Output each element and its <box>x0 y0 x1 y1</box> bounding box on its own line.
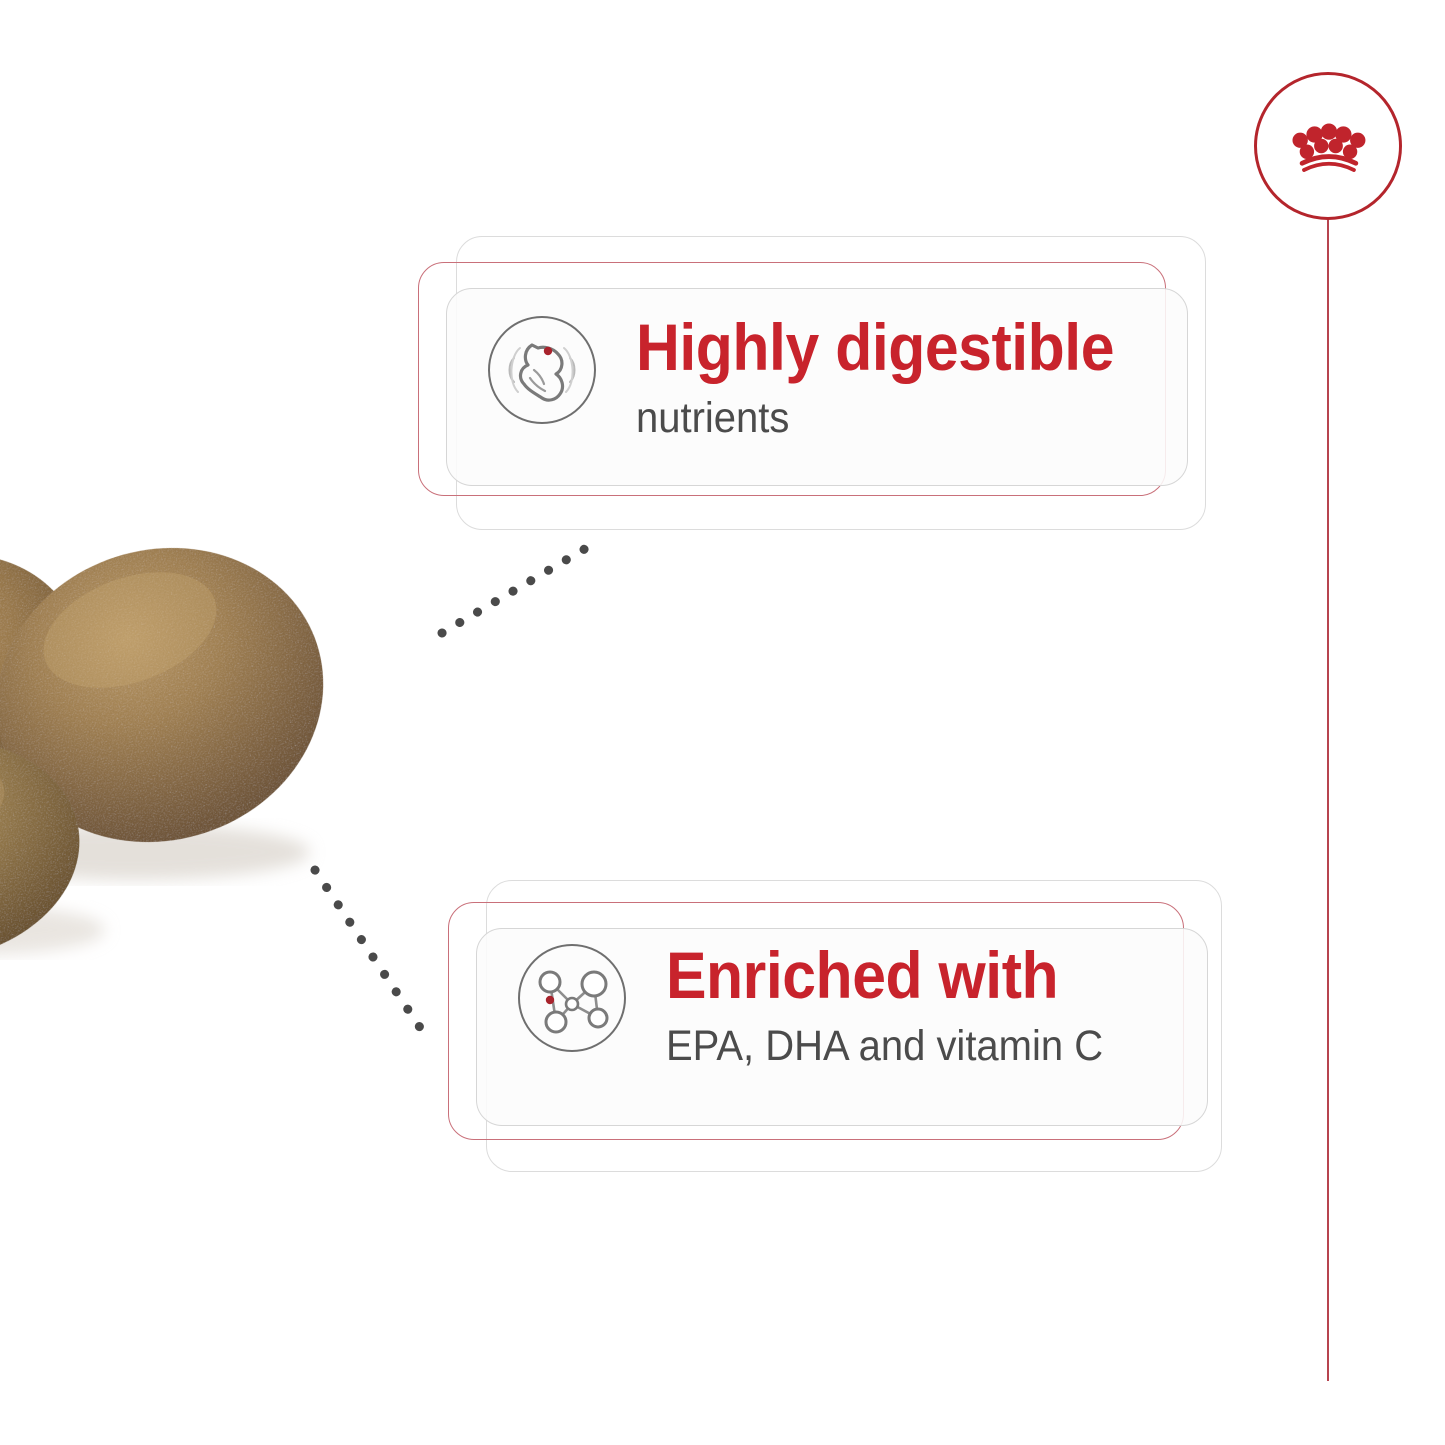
molecule-network-icon <box>514 940 630 1056</box>
logo-stem-line <box>1327 218 1329 1381</box>
card-text-block: Enriched with EPA, DHA and vitamin C <box>666 940 1136 1071</box>
feature-card-enriched-with[interactable]: Enriched with EPA, DHA and vitamin C <box>0 0 1445 1445</box>
card-subtitle: EPA, DHA and vitamin C <box>666 1023 1103 1070</box>
card-content: Enriched with EPA, DHA and vitamin C <box>514 940 1214 1110</box>
product-feature-panel: Highly digestible nutrients <box>0 0 1445 1445</box>
card-title: Enriched with <box>666 942 1098 1009</box>
royal-canin-crown-logo <box>1254 72 1402 220</box>
